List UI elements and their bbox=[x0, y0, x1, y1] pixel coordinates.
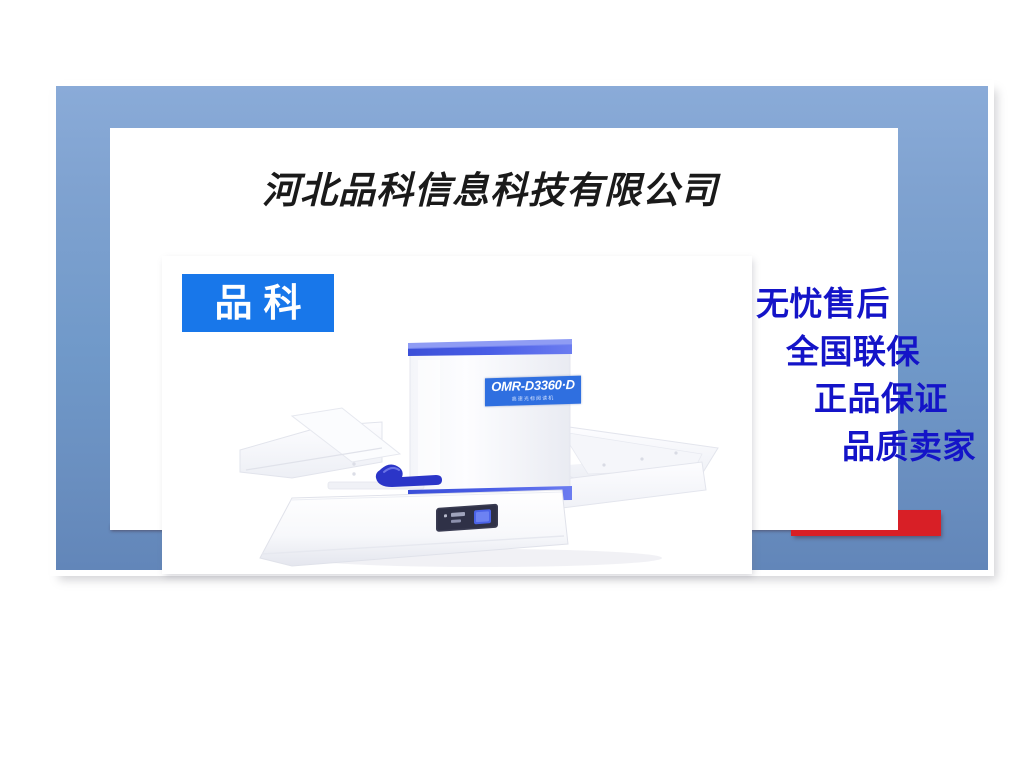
product-model-label: OMR-D3360·D bbox=[485, 378, 581, 394]
product-model-badge: OMR-D3360·D 高速光标阅读机 bbox=[485, 376, 581, 407]
banner-content-panel: 河北品科信息科技有限公司 品科 bbox=[110, 128, 898, 530]
guarantee-line-1: 无忧售后 bbox=[756, 280, 1024, 328]
product-photo-card: 品科 bbox=[162, 256, 752, 574]
banner-frame-mat: 河北品科信息科技有限公司 品科 bbox=[50, 80, 994, 576]
banner-frame-blue-border: 河北品科信息科技有限公司 品科 bbox=[56, 86, 988, 570]
guarantee-text-block: 无忧售后 全国联保 正品保证 品质卖家 bbox=[756, 280, 1024, 470]
brand-logo-label: 品科 bbox=[203, 284, 312, 322]
company-title: 河北品科信息科技有限公司 bbox=[110, 160, 870, 214]
banner-stage: 河北品科信息科技有限公司 品科 bbox=[0, 0, 1024, 768]
guarantee-line-4: 品质卖家 bbox=[756, 423, 1024, 471]
guarantee-line-2: 全国联保 bbox=[756, 328, 1024, 376]
omr-scanner-icon: OMR-D3360·D 高速光标阅读机 bbox=[232, 322, 732, 570]
product-model-sublabel: 高速光标阅读机 bbox=[485, 396, 581, 404]
guarantee-line-3: 正品保证 bbox=[756, 375, 1024, 423]
